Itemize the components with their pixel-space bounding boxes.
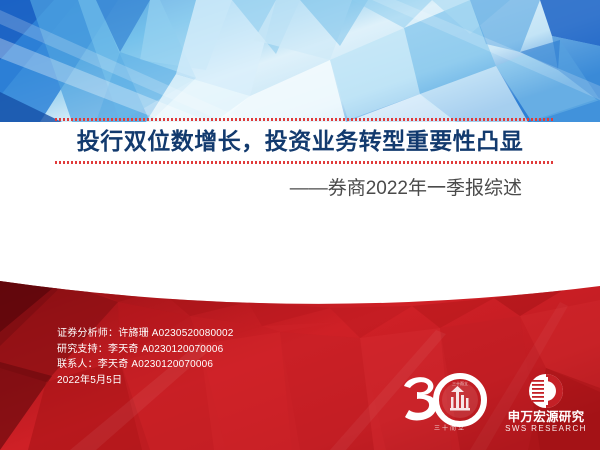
presentation-slide: 投行双位数增长，投资业务转型重要性凸显 ——券商2022年一季报综述 <box>0 0 600 450</box>
page-title: 投行双位数增长，投资业务转型重要性凸显 <box>0 126 600 156</box>
top-blue-geometric-band <box>0 0 600 122</box>
anniversary-30-icon: 三十而立 三十而立 <box>398 372 490 434</box>
title-area: 投行双位数增长，投资业务转型重要性凸显 ——券商2022年一季报综述 <box>0 122 600 287</box>
brand-english-name: SWS RESEARCH <box>505 424 587 433</box>
divider-dotted-bottom <box>55 161 555 164</box>
credit-analyst: 证券分析师：许旖珊 A0230520080002 <box>57 326 357 342</box>
divider-dotted-top <box>55 118 555 121</box>
brand-chinese-name: 申万宏源研究 <box>508 409 585 424</box>
analyst-credits: 证券分析师：许旖珊 A0230520080002 研究支持：李天奇 A02301… <box>57 326 357 388</box>
svg-text:三十而立: 三十而立 <box>452 380 468 386</box>
credit-research-support: 研究支持：李天奇 A0230120070006 <box>57 342 357 358</box>
blue-lowpoly-pattern <box>0 0 600 122</box>
svg-text:三十而立: 三十而立 <box>434 424 466 432</box>
credit-contact: 联系人：李天奇 A0230120070006 <box>57 357 357 373</box>
credit-date: 2022年5月5日 <box>57 373 357 389</box>
sws-research-logo: 申万宏源研究 SWS RESEARCH <box>499 371 593 435</box>
page-subtitle: ——券商2022年一季报综述 <box>0 176 600 202</box>
